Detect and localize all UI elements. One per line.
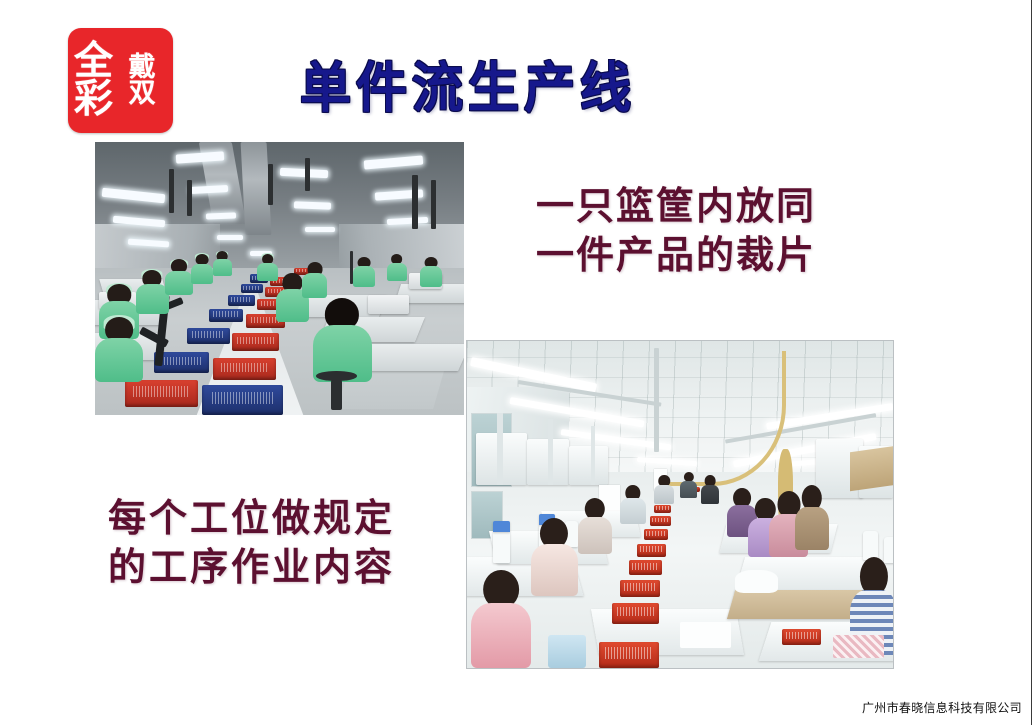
right-edge-line <box>1031 0 1032 725</box>
hanging-pole <box>431 180 436 229</box>
parts-basket <box>612 603 659 624</box>
worker <box>313 298 372 383</box>
worker-body <box>578 517 612 554</box>
hanging-pole <box>187 180 191 215</box>
worker-body <box>191 264 213 284</box>
hanging-pole <box>412 175 418 230</box>
machine-post <box>591 426 595 485</box>
photo1-scene <box>95 142 464 415</box>
worker <box>257 254 277 281</box>
worker <box>471 570 531 668</box>
parts-basket <box>187 328 230 344</box>
worker-body <box>701 485 719 504</box>
worker <box>620 485 646 524</box>
machine-post <box>548 419 553 484</box>
parts-basket <box>202 385 283 415</box>
hanging-pole <box>169 169 174 213</box>
machine-post <box>497 413 503 485</box>
knitting-machine <box>569 446 607 485</box>
water-bottle <box>548 635 586 668</box>
slide-canvas: 全彩 戴双 单件流生产线 <box>0 0 1036 725</box>
parts-basket <box>232 333 280 350</box>
hanging-pole <box>268 164 273 205</box>
stool-seat <box>316 371 357 381</box>
parts-basket <box>599 642 659 668</box>
parts-basket <box>629 560 662 575</box>
worker-body <box>387 263 407 282</box>
parts-basket <box>620 580 659 598</box>
worker <box>420 257 442 287</box>
parts-basket <box>654 505 671 514</box>
worker <box>191 254 213 284</box>
worker <box>701 475 719 504</box>
worker <box>302 262 328 297</box>
worker-body <box>353 266 375 286</box>
worker <box>531 518 578 596</box>
seal-left-column: 全彩 <box>74 34 129 127</box>
hanging-pole <box>305 158 309 191</box>
thread-spool <box>863 531 877 560</box>
ceiling-light <box>305 227 335 232</box>
worker <box>387 254 407 281</box>
worker-body <box>165 271 193 295</box>
worker-body <box>654 485 673 504</box>
seal-right-column: 戴双 <box>129 34 167 127</box>
worker-body <box>136 284 169 314</box>
callout-basket-note: 一只篮筐内放同 一件产品的裁片 <box>536 182 816 279</box>
ceiling-light <box>206 212 236 219</box>
callout-station-note: 每个工位做规定 的工序作业内容 <box>108 494 395 591</box>
company-seal-logo: 全彩 戴双 <box>68 28 173 133</box>
worker-body <box>95 338 143 383</box>
parts-basket <box>213 358 276 380</box>
worker <box>680 472 697 498</box>
worker <box>795 485 829 550</box>
worker-body <box>213 259 231 276</box>
worker-body <box>257 263 277 282</box>
fabric-pile <box>680 622 731 648</box>
worker <box>95 317 143 383</box>
sewing-machine <box>368 295 409 314</box>
parts-basket <box>782 629 820 645</box>
ceiling-duct <box>240 142 271 235</box>
worker <box>578 498 612 554</box>
ceiling-light <box>217 235 243 240</box>
parts-basket <box>125 380 199 407</box>
worker-body <box>302 273 328 297</box>
parts-basket <box>241 284 263 293</box>
vertical-rail <box>654 348 658 453</box>
parts-basket <box>644 529 668 540</box>
thread-spool-cap <box>493 521 510 532</box>
worker-body <box>471 603 531 668</box>
stool-leg <box>331 380 342 410</box>
parts-basket <box>209 309 243 322</box>
photo2-scene <box>467 341 893 668</box>
worker <box>136 270 169 314</box>
fabric-pile-patterned <box>833 635 884 658</box>
parts-basket <box>650 516 670 526</box>
parts-basket <box>637 544 665 557</box>
worker <box>213 251 231 276</box>
footer-company-name: 广州市春晓信息科技有限公司 <box>862 699 1022 716</box>
page-title: 单件流生产线 <box>300 44 740 122</box>
worker <box>654 475 673 504</box>
worker-body <box>680 481 697 498</box>
worker-body <box>420 266 442 286</box>
worker-body <box>620 498 646 524</box>
photo-production-line-green <box>95 142 464 415</box>
worker-body <box>795 507 829 550</box>
seal-inner: 全彩 戴双 <box>74 34 167 127</box>
carton-box <box>850 446 893 492</box>
fabric-pile <box>735 570 778 593</box>
ceiling-light <box>294 201 331 209</box>
worker <box>165 259 193 294</box>
photo-sewing-floor-white <box>467 341 893 668</box>
sewing-table-wood <box>727 590 863 619</box>
thread-spool <box>493 531 510 564</box>
worker-body <box>531 544 578 596</box>
parts-basket <box>228 295 255 306</box>
worker <box>353 257 375 287</box>
